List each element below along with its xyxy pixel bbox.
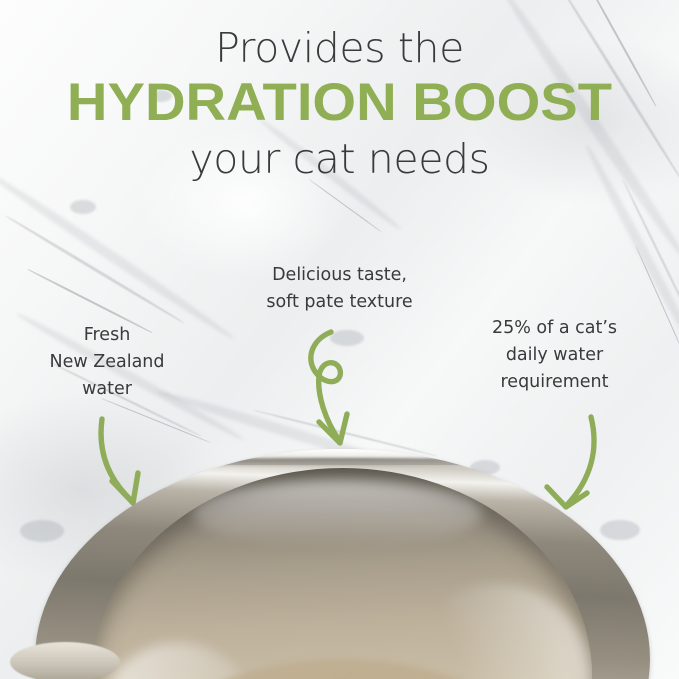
bowl-rim-shadow	[115, 458, 570, 467]
headline-block: Provides the HYDRATION BOOST your cat ne…	[0, 22, 679, 185]
callout-right-line-3: requirement	[462, 369, 647, 396]
headline-line-1: Provides the	[0, 22, 679, 74]
callout-25-percent-daily-water-requirement: 25% of a cat’s daily water requirement	[462, 315, 647, 396]
curly-loop-arrow-down-icon	[295, 330, 385, 455]
headline-line-3: your cat needs	[0, 133, 679, 185]
bowl-sheen-left	[103, 643, 252, 679]
callout-right-line-2: daily water	[462, 342, 647, 369]
bowl-base-edge	[10, 642, 120, 679]
callout-center-line-2: soft pate texture	[232, 289, 447, 316]
callout-left-line-1: Fresh	[22, 322, 192, 349]
bowl-sheen-right	[402, 584, 591, 679]
callout-left-line-2: New Zealand	[22, 349, 192, 376]
callout-delicious-taste-soft-pate-texture: Delicious taste, soft pate texture	[232, 262, 447, 316]
bowl-sheen-top	[193, 480, 482, 547]
callout-center-line-1: Delicious taste,	[232, 262, 447, 289]
promo-image: Provides the HYDRATION BOOST your cat ne…	[0, 0, 679, 679]
callout-left-line-3: water	[22, 376, 192, 403]
callout-right-line-1: 25% of a cat’s	[462, 315, 647, 342]
headline-line-2-accent: HYDRATION BOOST	[0, 75, 679, 131]
callout-fresh-new-zealand-water: Fresh New Zealand water	[22, 322, 192, 403]
bowl-interior	[93, 468, 591, 679]
